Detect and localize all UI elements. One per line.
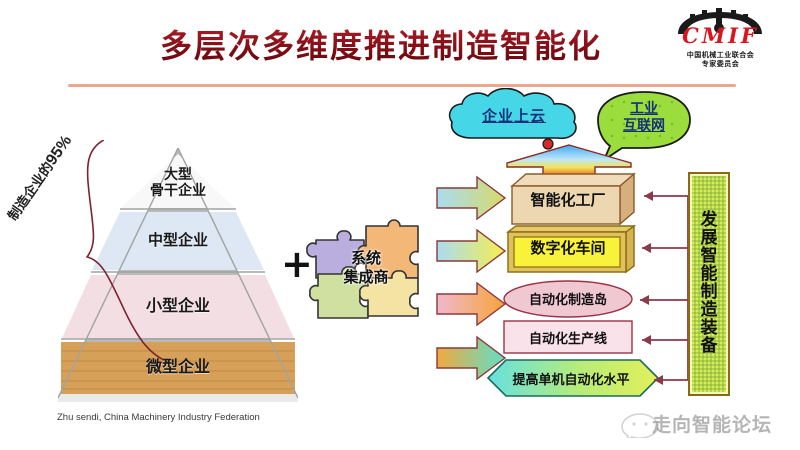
integrator-line2: 集成商 [343,269,388,288]
smart-factory-label: 智能化工厂 [508,177,628,221]
title-divider [68,84,736,87]
credit-text: Zhu sendi, China Machinery Industry Fede… [57,412,357,423]
enterprise-cloud-label: 企业上云 [444,105,584,126]
page-title: 多层次多维度推进制造智能化 [160,22,610,70]
arrow-to-automation-island [435,281,507,327]
logo-org-line2: 专家委员会 [658,59,783,69]
watermark-label: 走向智能论坛 [652,410,772,437]
slide-root: 多层次多维度推进制造智能化 CMIF 中国机械工业联合会 专家委员会 [0,0,800,450]
system-integrator-label: 系统 集成商 [306,234,426,304]
automation-island-label: 自动化制造岛 [505,282,631,314]
pyramid-layer-large: 大型 骨干企业 [112,156,244,208]
pyramid-layer-small: 小型企业 [66,276,290,338]
pyramid-layer-large-line1: 大型 [164,166,192,182]
pyramid-layer-medium-label: 中型企业 [148,232,208,249]
arrow-to-smart-factory [435,175,507,221]
industrial-internet-label: 工业 互联网 [596,100,692,134]
pyramid-layer-micro: 微型企业 [61,342,295,394]
single-machine-label: 提高单机自动化水平 [495,362,647,394]
cmif-logo: CMIF 中国机械工业联合会 专家委员会 [658,8,783,74]
pyramid-layer-large-line2: 骨干企业 [150,182,206,198]
integrator-line1: 系统 [351,250,381,269]
percent-label-prefix: 制造企业的 [5,159,56,223]
digital-workshop-label: 数字化车间 [511,228,625,266]
industrial-internet-line2: 互联网 [623,117,665,133]
pyramid-layer-micro-label: 微型企业 [146,359,210,377]
pyramid-layer-medium: 中型企业 [84,212,272,270]
pyramid-layer-small-label: 小型企业 [146,298,210,316]
automation-line-label: 自动化生产线 [506,322,630,352]
industrial-internet-line1: 工业 [630,100,658,116]
enterprise-pyramid: 大型 骨干企业 中型企业 小型企业 微型企业 [58,148,298,398]
logo-acronym: CMIF [658,24,783,48]
arrow-to-digital-workshop [435,228,507,274]
smart-equipment-banner-label: 发展智能制造装备 [688,178,726,386]
